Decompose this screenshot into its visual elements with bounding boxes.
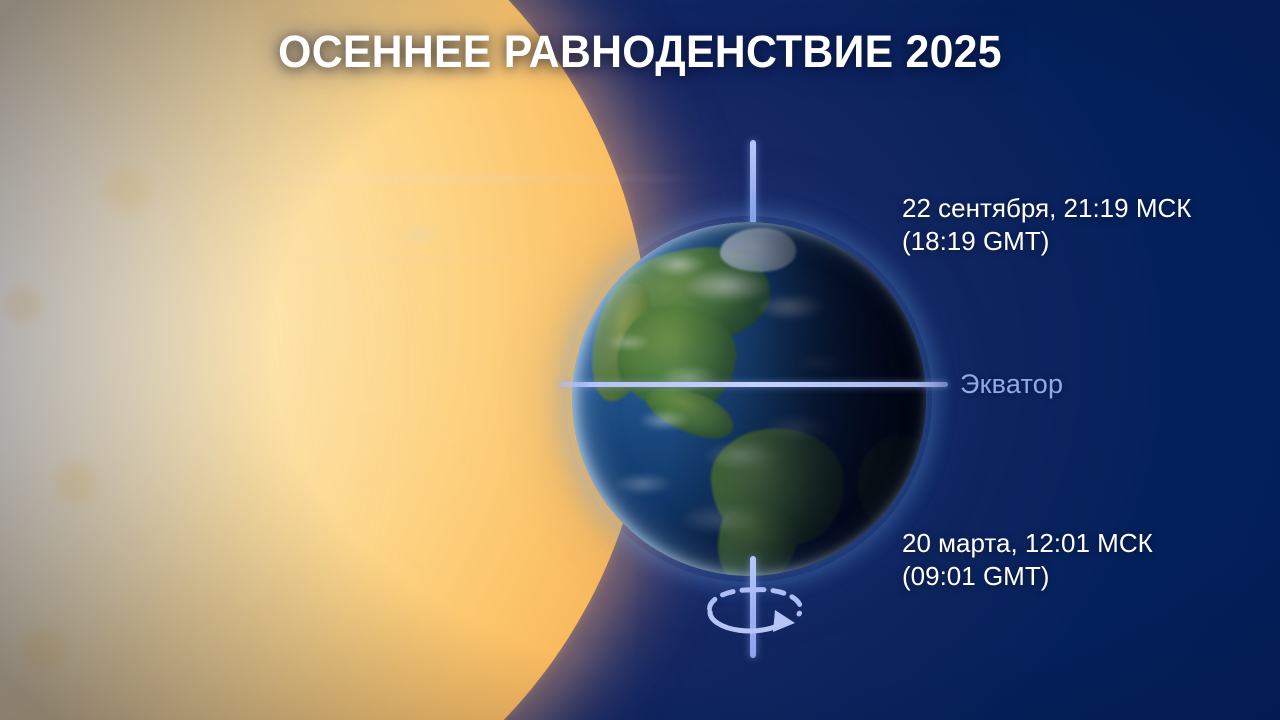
annotation-autumn-equinox: 22 сентября, 21:19 МСК (18:19 GMT) <box>902 192 1191 258</box>
annotation-spring-line2: (09:01 GMT) <box>902 560 1153 593</box>
annotation-autumn-line2: (18:19 GMT) <box>902 225 1191 258</box>
sun-limb-brightening <box>0 0 650 720</box>
lens-flare-streak-secondary <box>250 258 580 262</box>
lens-flare-blob <box>396 223 442 247</box>
page-title: ОСЕННЕЕ РАВНОДЕНСТВИЕ 2025 <box>32 26 1248 78</box>
annotation-spring-equinox: 20 марта, 12:01 МСК (09:01 GMT) <box>902 527 1153 593</box>
equator-line <box>559 382 948 387</box>
lens-flare-streak <box>205 176 725 181</box>
equator-label: Экватор <box>960 369 1063 400</box>
equinox-infographic: ОСЕННЕЕ РАВНОДЕНСТВИЕ 2025 Экватор 22 се… <box>0 0 1280 720</box>
annotation-spring-line1: 20 марта, 12:01 МСК <box>902 528 1153 558</box>
earth-limb-lighting <box>572 222 926 576</box>
sun <box>0 0 650 720</box>
earth-globe <box>572 222 926 576</box>
sun-disc <box>0 0 650 720</box>
annotation-autumn-line1: 22 сентября, 21:19 МСК <box>902 193 1191 223</box>
rotation-arrow-icon <box>700 578 812 652</box>
